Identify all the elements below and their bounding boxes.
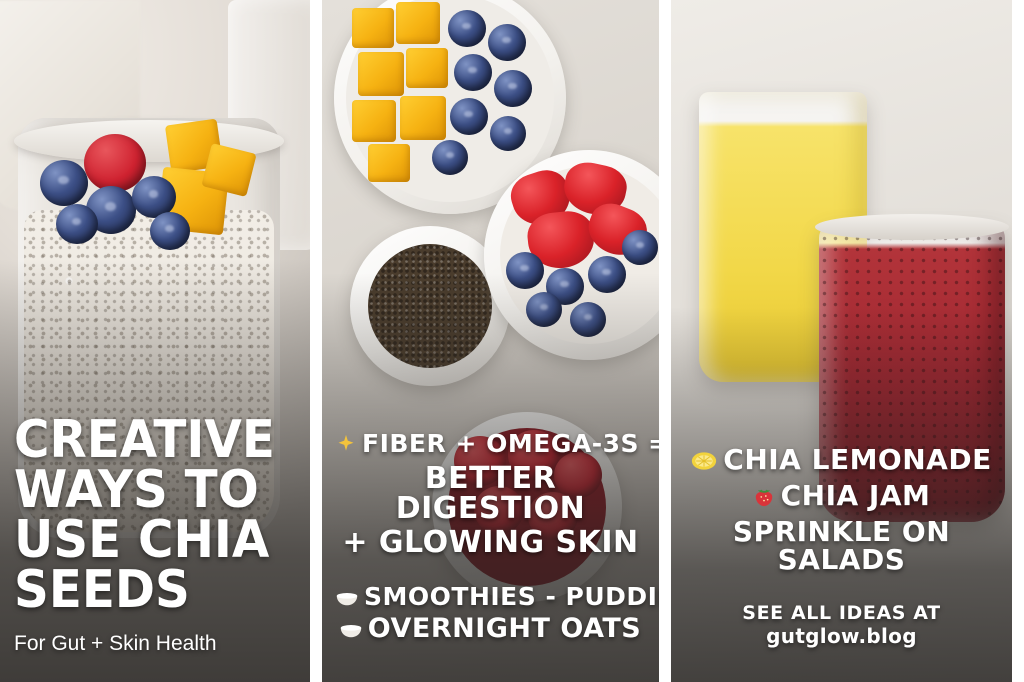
headline-line-4: Seeds [14,566,276,616]
idea-line-1: Chia Lemonade [723,443,991,476]
panel-ideas: Chia Lemonade Chia Jam Sprinkle on Salad… [671,0,1012,682]
blueberry [494,70,532,107]
bowl-icon [340,617,362,644]
blueberry [448,10,486,47]
benefit-line-1-row: Fiber + Omega-3s = [336,431,645,458]
blueberry [450,98,488,135]
idea-line-3: Sprinkle on Salads [685,518,998,574]
blueberry [56,204,98,244]
idea-line-1-row: Chia Lemonade [685,446,998,476]
mango-cube [400,96,446,140]
three-panel-collage: Creative Ways to Use Chia Seeds For Gut … [0,0,1024,682]
jar-rim [815,214,1009,240]
headline-line-3: Use Chia [14,516,276,566]
blueberry [622,230,658,265]
blueberry [432,140,468,175]
strawberry-icon [753,484,775,512]
panel-2-text-block: Fiber + Omega-3s = Better Digestion + Gl… [322,431,659,660]
blueberry [454,54,492,91]
panel-3-text-block: Chia Lemonade Chia Jam Sprinkle on Salad… [671,446,1012,664]
blueberry [490,116,526,151]
panel-1-text-block: Creative Ways to Use Chia Seeds For Gut … [0,416,310,672]
panel-divider [659,0,671,682]
blueberry [488,24,526,61]
blueberry [40,160,88,206]
sparkle-icon [336,433,356,458]
website-url[interactable]: gutglow.blog [685,624,998,648]
subtitle: For Gut + Skin Health [14,632,296,656]
headline-line-2: Ways to [14,466,276,516]
mango-cube [352,8,394,48]
blueberry [150,212,190,250]
panel-chia-pudding: Creative Ways to Use Chia Seeds For Gut … [0,0,310,682]
mango-cube [406,48,448,88]
mango-cube [358,52,404,96]
benefit-line-3: + Glowing Skin [336,528,645,558]
mango-cube [396,2,440,44]
panel-divider [310,0,322,682]
idea-line-2-row: Chia Jam [685,482,998,512]
cta-text: See all ideas at [685,602,998,624]
mango-cube [352,100,396,142]
lemon-icon [691,448,717,476]
benefit-line-2: Better Digestion [336,464,645,524]
uses-line-1-row: Smoothies - Puddings [336,584,645,611]
benefit-line-1: Fiber + Omega-3s = [362,429,659,458]
uses-line-2-row: Overnight Oats [336,615,645,644]
headline-line-1: Creative [14,416,276,466]
idea-line-2: Chia Jam [781,479,931,512]
uses-line-2: Overnight Oats [368,613,641,644]
uses-line-1: Smoothies - Puddings [364,582,659,611]
mango-cube [368,144,410,182]
bowl-icon [336,586,358,611]
panel-benefits: Fiber + Omega-3s = Better Digestion + Gl… [322,0,659,682]
